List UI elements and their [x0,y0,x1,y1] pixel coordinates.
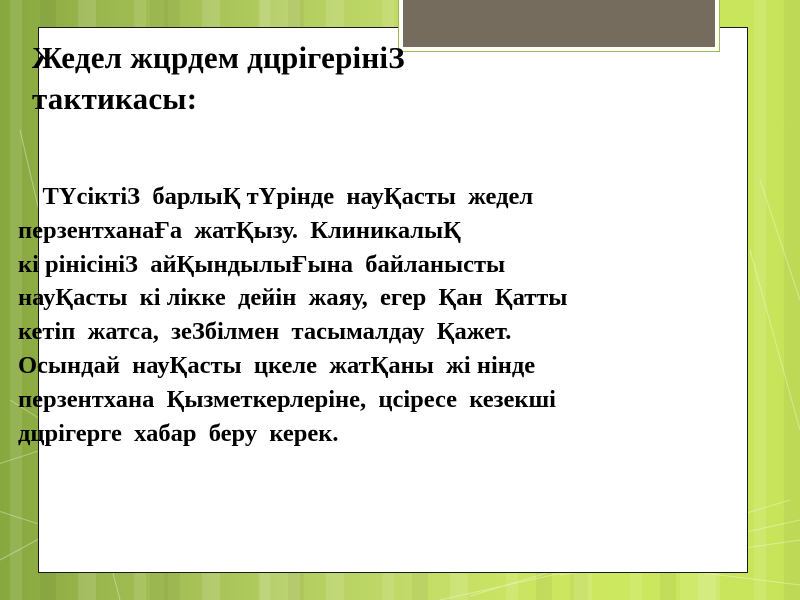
slide-title-line-1: Жедел жцрдем дцрігерініЗ [32,40,405,75]
body-line: кі рінісініЗ айҚындылыҒына байланысты [18,248,706,282]
slide-title-line-2: тактикасы: [32,79,672,120]
body-line: Осындай науҚасты цкеле жатҚаны жі нінде [18,349,706,383]
body-line: дцрігерге хабар беру керек. [18,417,706,451]
slide-body-text[interactable]: ТҮсіктіЗ барлыҚ тҮрінде науҚасты жедел п… [18,180,706,450]
body-line: перзентхана Қызметкерлеріне, цсіресе кез… [18,383,706,417]
body-line: кетіп жатса, зеЗбілмен тасымалдау Қажет. [18,315,706,349]
body-line: ТҮсіктіЗ барлыҚ тҮрінде науҚасты жедел [18,180,706,214]
body-line: перзентханаҒа жатҚызу. КлиникалыҚ [18,214,706,248]
slide-title[interactable]: Жедел жцрдем дцрігерініЗ тактикасы: [32,38,672,120]
presentation-slide: Жедел жцрдем дцрігерініЗ тактикасы: ТҮсі… [0,0,800,600]
body-line: науҚасты кі лікке дейін жаяу, егер Қан Қ… [18,281,706,315]
